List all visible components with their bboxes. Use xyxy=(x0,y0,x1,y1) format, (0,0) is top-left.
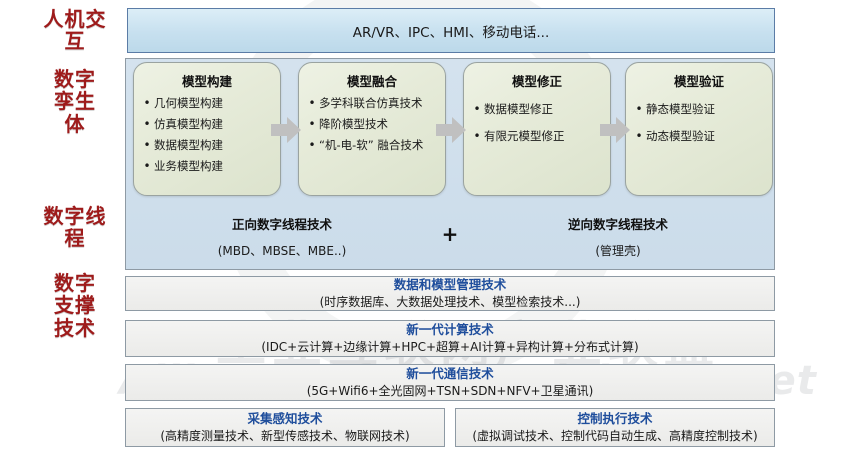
forward-thread-title: 正向数字线程技术 xyxy=(128,214,436,233)
rail-label-digital-support-tech: 数字支撑技术 xyxy=(46,272,104,339)
bullet-icon: • xyxy=(140,117,154,132)
list-item-label: 降阶模型技术 xyxy=(319,117,439,131)
stage-item-list: •静态模型验证 •动态模型验证 xyxy=(626,102,772,144)
support-box-next-gen-communication[interactable]: 新一代通信技术 (5G+Wifi6+全光固网+TSN+SDN+NFV+卫星通讯) xyxy=(125,364,775,401)
reverse-thread-subtitle: (管理壳) xyxy=(464,242,772,259)
list-item-label: 多学科联合仿真技术 xyxy=(319,96,439,110)
support-box-acquisition-sensing[interactable]: 采集感知技术 (高精度测量技术、新型传感技术、物联网技术) xyxy=(125,408,445,447)
stage-box-model-fusion[interactable]: 模型融合 •多学科联合仿真技术 •降阶模型技术 •“机-电-软” 融合技术 xyxy=(298,62,446,196)
rail-label-human-machine-interaction: 人机交互 xyxy=(40,8,110,53)
list-item-label: 仿真模型构建 xyxy=(154,117,274,131)
support-title: 控制执行技术 xyxy=(577,411,652,426)
reverse-thread-title: 逆向数字线程技术 xyxy=(464,214,772,233)
bullet-icon: • xyxy=(470,129,484,144)
list-item: •仿真模型构建 xyxy=(140,117,274,132)
list-item-label: 数据模型修正 xyxy=(484,102,604,116)
rail-label-digital-twin: 数字孪生体 xyxy=(46,68,104,135)
list-item-label: 业务模型构建 xyxy=(154,159,274,173)
support-title: 新一代计算技术 xyxy=(406,322,494,337)
human-machine-interaction-banner: AR/VR、IPC、HMI、移动电话... xyxy=(127,8,775,53)
bullet-icon: • xyxy=(140,159,154,174)
bullet-icon: • xyxy=(140,96,154,111)
support-subtitle: (IDC+云计算+边缘计算+HPC+超算+AI计算+异构计算+分布式计算) xyxy=(261,340,638,354)
list-item: •动态模型验证 xyxy=(632,129,766,144)
reverse-digital-thread-block: 逆向数字线程技术 (管理壳) xyxy=(464,214,772,259)
stage-title: 模型融合 xyxy=(299,71,445,90)
stage-title: 模型修正 xyxy=(464,71,610,90)
stage-box-model-construction[interactable]: 模型构建 •几何模型构建 •仿真模型构建 •数据模型构建 •业务模型构建 xyxy=(133,62,281,196)
flow-arrow-right-icon xyxy=(600,117,630,143)
bullet-icon: • xyxy=(305,138,319,153)
support-subtitle: (5G+Wifi6+全光固网+TSN+SDN+NFV+卫星通讯) xyxy=(307,384,594,398)
bullet-icon: • xyxy=(470,102,484,117)
stage-item-list: •多学科联合仿真技术 •降阶模型技术 •“机-电-软” 融合技术 xyxy=(299,96,445,153)
list-item: •数据模型构建 xyxy=(140,138,274,153)
support-title: 采集感知技术 xyxy=(247,411,322,426)
stage-title: 模型构建 xyxy=(134,71,280,90)
support-box-data-model-management[interactable]: 数据和模型管理技术 (时序数据库、大数据处理技术、模型检索技术...) xyxy=(125,276,775,311)
list-item: •降阶模型技术 xyxy=(305,117,439,132)
bullet-icon: • xyxy=(632,129,646,144)
support-box-control-execution[interactable]: 控制执行技术 (虚拟调试技术、控制代码自动生成、高精度控制技术) xyxy=(455,408,775,447)
bullet-icon: • xyxy=(305,117,319,132)
left-rail: 人机交互 数字孪生体 数字线程 数字支撑技术 xyxy=(0,0,118,463)
list-item-label: 几何模型构建 xyxy=(154,96,274,110)
bullet-icon: • xyxy=(140,138,154,153)
forward-thread-subtitle: (MBD、MBSE、MBE..) xyxy=(128,242,436,259)
stage-item-list: •数据模型修正 •有限元模型修正 xyxy=(464,102,610,144)
list-item-label: “机-电-软” 融合技术 xyxy=(319,138,439,152)
list-item-label: 有限元模型修正 xyxy=(484,129,604,143)
flow-arrow-right-icon xyxy=(436,117,466,143)
support-box-next-gen-computing[interactable]: 新一代计算技术 (IDC+云计算+边缘计算+HPC+超算+AI计算+异构计算+分… xyxy=(125,320,775,357)
bullet-icon: • xyxy=(632,102,646,117)
list-item: •多学科联合仿真技术 xyxy=(305,96,439,111)
rail-label-digital-thread: 数字线程 xyxy=(40,205,110,250)
list-item: •静态模型验证 xyxy=(632,102,766,117)
stage-item-list: •几何模型构建 •仿真模型构建 •数据模型构建 •业务模型构建 xyxy=(134,96,280,174)
list-item: •几何模型构建 xyxy=(140,96,274,111)
digital-thread-row: 正向数字线程技术 (MBD、MBSE、MBE..) + 逆向数字线程技术 (管理… xyxy=(128,206,772,266)
bullet-icon: • xyxy=(305,96,319,111)
list-item-label: 动态模型验证 xyxy=(646,129,766,143)
list-item-label: 数据模型构建 xyxy=(154,138,274,152)
stage-box-model-verification[interactable]: 模型验证 •静态模型验证 •动态模型验证 xyxy=(625,62,773,196)
list-item-label: 静态模型验证 xyxy=(646,102,766,116)
support-subtitle: (虚拟调试技术、控制代码自动生成、高精度控制技术) xyxy=(472,429,757,443)
support-title: 新一代通信技术 xyxy=(406,366,494,381)
list-item: •数据模型修正 xyxy=(470,102,604,117)
forward-digital-thread-block: 正向数字线程技术 (MBD、MBSE、MBE..) xyxy=(128,214,436,259)
list-item: •有限元模型修正 xyxy=(470,129,604,144)
banner-text: AR/VR、IPC、HMI、移动电话... xyxy=(353,21,549,41)
stage-box-model-correction[interactable]: 模型修正 •数据模型修正 •有限元模型修正 xyxy=(463,62,611,196)
support-title: 数据和模型管理技术 xyxy=(394,277,507,292)
support-subtitle: (时序数据库、大数据处理技术、模型检索技术...) xyxy=(320,295,581,309)
list-item: •业务模型构建 xyxy=(140,159,274,174)
plus-sign-icon: + xyxy=(436,222,464,250)
stage-title: 模型验证 xyxy=(626,71,772,90)
support-subtitle: (高精度测量技术、新型传感技术、物联网技术) xyxy=(160,429,409,443)
flow-arrow-right-icon xyxy=(271,117,301,143)
list-item: •“机-电-软” 融合技术 xyxy=(305,138,439,153)
